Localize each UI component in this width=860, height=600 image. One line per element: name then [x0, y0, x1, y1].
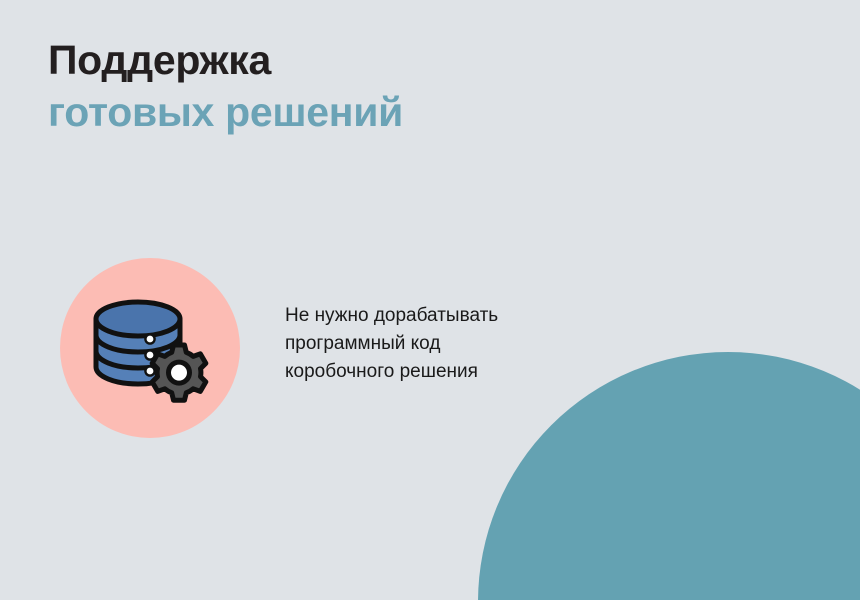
- icon-badge: [60, 258, 240, 438]
- database-indicator-dot: [145, 334, 154, 343]
- database-gear-icon: [88, 289, 212, 407]
- slide-canvas: Поддержка готовых решений: [0, 0, 860, 600]
- feature-description-line-2: программный код: [285, 330, 625, 358]
- feature-description: Не нужно дорабатывать программный код ко…: [285, 302, 625, 386]
- page-title-line-1: Поддержка: [48, 34, 608, 86]
- page-title: Поддержка готовых решений: [48, 34, 608, 138]
- feature-description-line-3: коробочного решения: [285, 358, 625, 386]
- feature-item: Не нужно дорабатывать программный код ко…: [60, 258, 620, 438]
- feature-description-line-1: Не нужно дорабатывать: [285, 302, 625, 330]
- page-title-line-2: готовых решений: [48, 86, 608, 138]
- gear-icon: [152, 345, 206, 400]
